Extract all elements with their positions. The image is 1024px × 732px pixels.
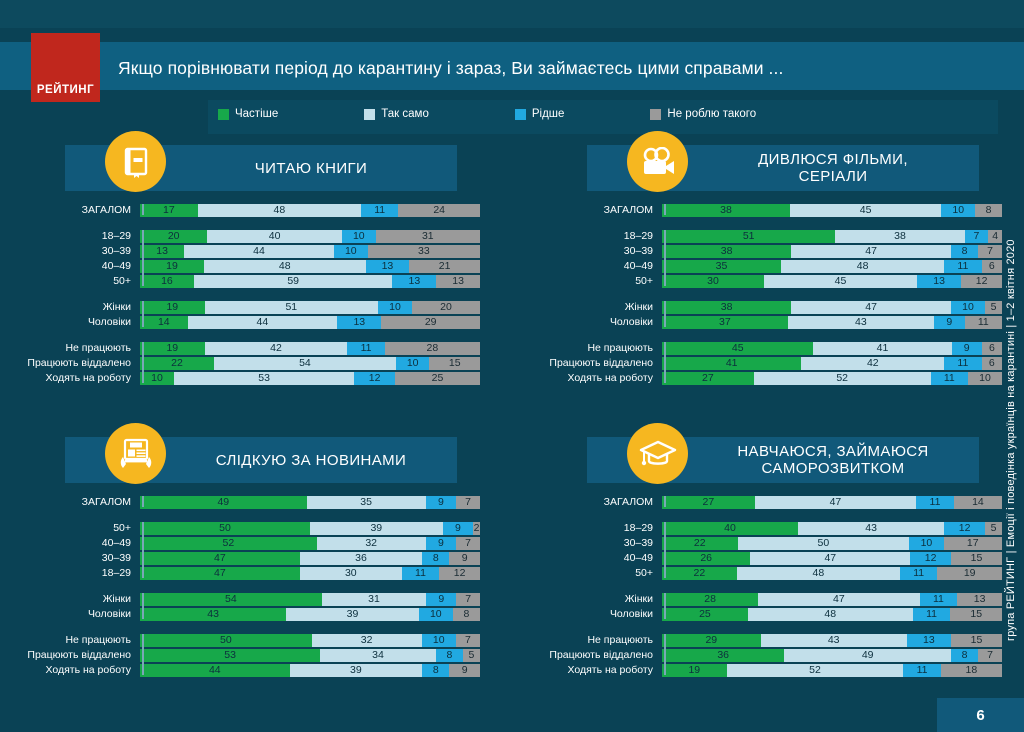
bar-segment: 32 xyxy=(317,537,426,550)
bar-segment: 7 xyxy=(978,245,1002,258)
bar-value: 41 xyxy=(877,342,889,355)
bar-value: 13 xyxy=(156,245,168,258)
bar-segment: 13 xyxy=(917,275,961,288)
chart-row: ЗАГАЛОМ3845108 xyxy=(532,204,1002,217)
bar-segment: 29 xyxy=(662,634,761,647)
bar-segment: 41 xyxy=(662,357,801,370)
bar-value: 50 xyxy=(219,522,231,535)
bar-value: 8 xyxy=(433,664,439,677)
bar-segment: 49 xyxy=(140,496,307,509)
bar-segment: 14 xyxy=(140,316,188,329)
bar-value: 26 xyxy=(700,552,712,565)
chart-group: Жінки28471113Чоловіки25481115 xyxy=(532,593,1002,621)
bar-segment: 44 xyxy=(188,316,338,329)
bar-segment: 42 xyxy=(801,357,944,370)
chart-row: Працюють віддалено533485 xyxy=(10,649,480,662)
chart-row: 50+503992 xyxy=(10,522,480,535)
row-label: ЗАГАЛОМ xyxy=(10,496,140,509)
bar-segment: 20 xyxy=(412,301,480,314)
bar-value: 6 xyxy=(989,357,995,370)
bar-value: 8 xyxy=(986,204,992,217)
row-label: Жінки xyxy=(532,593,662,606)
bar-segment: 6 xyxy=(982,357,1002,370)
panel-title: СЛІДКУЮ ЗА НОВИНАМИ xyxy=(165,452,457,469)
row-label: Не працюють xyxy=(532,634,662,647)
panel-header: СЛІДКУЮ ЗА НОВИНАМИ xyxy=(10,430,480,490)
bar-value: 54 xyxy=(299,357,311,370)
row-label: 40–49 xyxy=(532,260,662,273)
bar-value: 27 xyxy=(702,372,714,385)
axis-tick xyxy=(664,593,666,619)
bar-segment: 11 xyxy=(965,316,1002,329)
bar-segment: 13 xyxy=(957,593,1002,606)
bar-value: 17 xyxy=(163,204,175,217)
movie-camera-icon xyxy=(627,131,688,192)
row-label: ЗАГАЛОМ xyxy=(532,204,662,217)
bar-segment: 19 xyxy=(662,664,727,677)
bar-value: 5 xyxy=(991,301,997,314)
row-label: Жінки xyxy=(10,301,140,314)
bar-segment: 11 xyxy=(347,342,384,355)
bar-value: 7 xyxy=(987,649,993,662)
bar-value: 45 xyxy=(835,275,847,288)
stacked-bar-chart: ЗАГАЛОМ384510818–2951387430–3938478740–4… xyxy=(532,204,1002,385)
bar-value: 10 xyxy=(151,372,163,385)
book-icon xyxy=(105,131,166,192)
bar-value: 10 xyxy=(921,537,933,550)
chart-row: Не працюють5032107 xyxy=(10,634,480,647)
axis-tick xyxy=(142,342,144,383)
axis-tick xyxy=(664,634,666,675)
stacked-bar: 19511020 xyxy=(140,301,480,314)
bar-value: 6 xyxy=(989,260,995,273)
bar-segment: 9 xyxy=(443,522,474,535)
bar-value: 48 xyxy=(274,204,286,217)
chart-panel: НАВЧАЮСЯ, ЗАЙМАЮСЯСАМОРОЗВИТКОМЗАГАЛОМ27… xyxy=(532,430,1002,679)
bar-value: 9 xyxy=(946,316,952,329)
chart-row: ЗАГАЛОМ17481124 xyxy=(10,204,480,217)
bar-value: 9 xyxy=(455,522,461,535)
bar-value: 13 xyxy=(974,593,986,606)
stacked-bar: 19421128 xyxy=(140,342,480,355)
bar-value: 25 xyxy=(699,608,711,621)
bar-segment: 11 xyxy=(900,567,937,580)
bar-value: 19 xyxy=(688,664,700,677)
bar-segment: 25 xyxy=(662,608,748,621)
axis-tick xyxy=(664,496,666,507)
row-label: 50+ xyxy=(10,275,140,288)
axis-tick xyxy=(664,230,666,286)
bar-segment: 37 xyxy=(662,316,788,329)
chart-row: Не працюють29431315 xyxy=(532,634,1002,647)
bar-segment: 10 xyxy=(342,230,376,243)
chart-row: Ходять на роботу443989 xyxy=(10,664,480,677)
bar-segment: 7 xyxy=(456,496,480,509)
bar-value: 47 xyxy=(830,496,842,509)
bar-value: 13 xyxy=(452,275,464,288)
axis-tick xyxy=(142,204,144,215)
bar-segment: 11 xyxy=(920,593,958,606)
chart-row: Чоловіки25481115 xyxy=(532,608,1002,621)
bar-segment: 25 xyxy=(395,372,480,385)
page-title: Якщо порівнювати період до карантину і з… xyxy=(118,54,918,82)
bar-value: 35 xyxy=(360,496,372,509)
bar-value: 10 xyxy=(962,301,974,314)
bar-value: 27 xyxy=(703,496,715,509)
stacked-bar: 513874 xyxy=(662,230,1002,243)
chart-row: Ходять на роботу19521118 xyxy=(532,664,1002,677)
bar-value: 39 xyxy=(370,522,382,535)
bar-value: 11 xyxy=(944,372,955,385)
bar-segment: 39 xyxy=(310,522,443,535)
bar-segment: 10 xyxy=(334,245,368,258)
bar-segment: 15 xyxy=(951,552,1002,565)
bar-value: 12 xyxy=(976,275,988,288)
bar-value: 59 xyxy=(287,275,299,288)
stacked-bar: 19521118 xyxy=(662,664,1002,677)
legend-item: Так само xyxy=(364,108,429,120)
chart-row: 18–2920401031 xyxy=(10,230,480,243)
bar-value: 17 xyxy=(967,537,979,550)
bar-segment: 14 xyxy=(954,496,1002,509)
bar-value: 19 xyxy=(166,260,178,273)
axis-tick xyxy=(664,522,666,578)
bar-value: 51 xyxy=(743,230,755,243)
bar-value: 7 xyxy=(974,230,980,243)
bar-value: 48 xyxy=(279,260,291,273)
chart-row: 40–493548116 xyxy=(532,260,1002,273)
bar-value: 29 xyxy=(425,316,437,329)
chart-row: 18–29513874 xyxy=(532,230,1002,243)
under-band xyxy=(0,90,1024,100)
bar-segment: 31 xyxy=(322,593,426,606)
bar-value: 8 xyxy=(446,649,452,662)
legend-label: Не роблю такого xyxy=(667,108,756,120)
row-label: 40–49 xyxy=(532,552,662,565)
legend-swatch xyxy=(650,109,661,120)
side-credit: група РЕЙТИНГ | Емоції і поведінка украї… xyxy=(1000,160,1022,720)
axis-tick xyxy=(142,230,144,286)
bar-segment: 15 xyxy=(951,634,1002,647)
stacked-bar: 26471215 xyxy=(662,552,1002,565)
bar-value: 7 xyxy=(465,634,471,647)
stacked-bar-chart: ЗАГАЛОМ49359750+50399240–4952329730–3947… xyxy=(10,496,480,677)
row-label: Працюють віддалено xyxy=(532,357,662,370)
panel-title: ДИВЛЮСЯ ФІЛЬМИ,СЕРІАЛИ xyxy=(687,151,979,185)
bar-segment: 50 xyxy=(738,537,910,550)
bar-value: 24 xyxy=(433,204,445,217)
panel-header: ДИВЛЮСЯ ФІЛЬМИ,СЕРІАЛИ xyxy=(532,138,1002,198)
bar-segment: 51 xyxy=(205,301,378,314)
stacked-bar: 13441033 xyxy=(140,245,480,258)
bar-value: 7 xyxy=(465,537,471,550)
bar-value: 42 xyxy=(867,357,879,370)
stacked-bar: 29431315 xyxy=(662,634,1002,647)
row-label: 18–29 xyxy=(532,230,662,243)
row-label: 18–29 xyxy=(10,567,140,580)
bar-value: 37 xyxy=(719,316,731,329)
stacked-bar: 22541015 xyxy=(140,357,480,370)
bar-segment: 15 xyxy=(950,608,1002,621)
bar-segment: 6 xyxy=(982,342,1002,355)
top-band xyxy=(0,0,1024,28)
bar-value: 47 xyxy=(865,245,877,258)
bar-value: 36 xyxy=(355,552,367,565)
bar-segment: 51 xyxy=(662,230,835,243)
chart-row: 40–49523297 xyxy=(10,537,480,550)
bar-value: 30 xyxy=(707,275,719,288)
stacked-bar: 4043125 xyxy=(662,522,1002,535)
row-label: Ходять на роботу xyxy=(10,372,140,385)
bar-segment: 13 xyxy=(337,316,381,329)
bar-value: 21 xyxy=(439,260,451,273)
stacked-bar: 20401031 xyxy=(140,230,480,243)
axis-tick xyxy=(664,204,666,215)
stacked-bar: 3847105 xyxy=(662,301,1002,314)
chart-row: Жінки19511020 xyxy=(10,301,480,314)
row-label: 50+ xyxy=(10,522,140,535)
logo-text: РЕЙТИНГ xyxy=(37,84,94,96)
bar-value: 47 xyxy=(865,301,877,314)
bar-value: 28 xyxy=(427,342,439,355)
bar-value: 25 xyxy=(432,372,444,385)
stacked-bar: 27521110 xyxy=(662,372,1002,385)
bar-segment: 43 xyxy=(798,522,944,535)
bar-segment: 48 xyxy=(198,204,361,217)
bar-segment: 35 xyxy=(307,496,426,509)
bar-value: 50 xyxy=(220,634,232,647)
chart-group: ЗАГАЛОМ27471114 xyxy=(532,496,1002,509)
chart-panel: ДИВЛЮСЯ ФІЛЬМИ,СЕРІАЛИЗАГАЛОМ384510818–2… xyxy=(532,138,1002,387)
bar-value: 2 xyxy=(474,522,480,535)
bar-value: 39 xyxy=(350,664,362,677)
bar-value: 11 xyxy=(374,204,385,217)
chart-row: Жінки543197 xyxy=(10,593,480,606)
bar-segment: 13 xyxy=(392,275,436,288)
legend-item: Рідше xyxy=(515,108,565,120)
bar-value: 43 xyxy=(828,634,840,647)
bar-value: 43 xyxy=(865,522,877,535)
bar-value: 38 xyxy=(720,204,732,217)
bar-segment: 5 xyxy=(463,649,480,662)
chart-row: 30–3913441033 xyxy=(10,245,480,258)
bar-value: 31 xyxy=(368,593,380,606)
bar-segment: 44 xyxy=(184,245,334,258)
bar-segment: 11 xyxy=(944,260,981,273)
bar-segment: 26 xyxy=(662,552,750,565)
bar-value: 44 xyxy=(209,664,221,677)
stacked-bar: 503992 xyxy=(140,522,480,535)
bar-segment: 19 xyxy=(140,301,205,314)
bar-segment: 45 xyxy=(790,204,941,217)
bar-segment: 39 xyxy=(290,664,423,677)
bar-segment: 47 xyxy=(140,567,300,580)
chart-group: 18–29404312530–392250101740–492647121550… xyxy=(532,522,1002,580)
bar-value: 22 xyxy=(171,357,183,370)
bar-value: 11 xyxy=(913,567,924,580)
chart-row: ЗАГАЛОМ493597 xyxy=(10,496,480,509)
stacked-bar: 47301112 xyxy=(140,567,480,580)
stacked-bar: 19481321 xyxy=(140,260,480,273)
bar-value: 20 xyxy=(440,301,452,314)
bar-segment: 22 xyxy=(662,537,738,550)
bar-value: 38 xyxy=(721,245,733,258)
stacked-bar: 443989 xyxy=(140,664,480,677)
bar-segment: 21 xyxy=(409,260,480,273)
bar-segment: 10 xyxy=(140,372,174,385)
bar-segment: 53 xyxy=(174,372,354,385)
bar-value: 8 xyxy=(463,608,469,621)
bar-segment: 9 xyxy=(426,496,457,509)
row-label: 30–39 xyxy=(532,245,662,258)
stacked-bar: 523297 xyxy=(140,537,480,550)
bar-segment: 53 xyxy=(140,649,320,662)
bar-segment: 50 xyxy=(140,634,312,647)
bar-value: 9 xyxy=(438,496,444,509)
bar-value: 9 xyxy=(462,664,468,677)
bar-value: 10 xyxy=(389,301,401,314)
row-label: Жінки xyxy=(532,301,662,314)
bar-segment: 38 xyxy=(835,230,964,243)
bar-value: 47 xyxy=(824,552,836,565)
bar-value: 14 xyxy=(158,316,170,329)
bar-segment: 22 xyxy=(140,357,214,370)
bar-segment: 18 xyxy=(941,664,1002,677)
bar-value: 13 xyxy=(353,316,365,329)
bar-segment: 28 xyxy=(662,593,758,606)
bar-value: 10 xyxy=(433,634,445,647)
bar-value: 45 xyxy=(860,204,872,217)
bar-value: 10 xyxy=(979,372,991,385)
bar-value: 40 xyxy=(269,230,281,243)
stacked-bar: 22501017 xyxy=(662,537,1002,550)
row-label: Працюють віддалено xyxy=(10,649,140,662)
bar-segment: 13 xyxy=(140,245,184,258)
bar-segment: 39 xyxy=(286,608,419,621)
bar-value: 13 xyxy=(923,634,935,647)
stacked-bar: 3548116 xyxy=(662,260,1002,273)
bar-segment: 10 xyxy=(422,634,456,647)
chart-group: 50+50399240–4952329730–3947368918–294730… xyxy=(10,522,480,580)
bar-value: 15 xyxy=(971,552,983,565)
bar-segment: 11 xyxy=(916,496,954,509)
bar-segment: 10 xyxy=(909,537,943,550)
legend-swatch xyxy=(364,109,375,120)
bar-segment: 19 xyxy=(140,260,204,273)
bar-value: 40 xyxy=(724,522,736,535)
row-label: ЗАГАЛОМ xyxy=(10,204,140,217)
bar-value: 11 xyxy=(933,593,944,606)
chart-row: Ходять на роботу27521110 xyxy=(532,372,1002,385)
bar-segment: 11 xyxy=(944,357,981,370)
bar-value: 38 xyxy=(721,301,733,314)
chart-row: 50+16591313 xyxy=(10,275,480,288)
row-label: Жінки xyxy=(10,593,140,606)
bar-value: 43 xyxy=(855,316,867,329)
row-label: 30–39 xyxy=(10,552,140,565)
bar-segment: 38 xyxy=(662,245,791,258)
bar-value: 11 xyxy=(926,608,937,621)
stacked-bar: 473689 xyxy=(140,552,480,565)
row-label: Не працюють xyxy=(10,342,140,355)
bar-value: 22 xyxy=(694,537,706,550)
bar-value: 48 xyxy=(813,567,825,580)
row-label: 50+ xyxy=(532,567,662,580)
chart-group: Не працюють5032107Працюють віддалено5334… xyxy=(10,634,480,677)
bar-value: 12 xyxy=(925,552,937,565)
chart-group: ЗАГАЛОМ17481124 xyxy=(10,204,480,217)
chart-row: Працюють віддалено4142116 xyxy=(532,357,1002,370)
bar-segment: 10 xyxy=(941,204,975,217)
row-label: 18–29 xyxy=(10,230,140,243)
bar-value: 13 xyxy=(933,275,945,288)
bar-segment: 36 xyxy=(300,552,422,565)
bar-segment: 36 xyxy=(662,649,784,662)
bar-segment: 7 xyxy=(456,593,480,606)
stacked-bar: 28471113 xyxy=(662,593,1002,606)
bar-value: 53 xyxy=(258,372,270,385)
chart-group: Жінки543197Чоловіки4339108 xyxy=(10,593,480,621)
bar-segment: 7 xyxy=(965,230,989,243)
bar-segment: 30 xyxy=(300,567,402,580)
bar-segment: 6 xyxy=(982,260,1002,273)
bar-segment: 9 xyxy=(449,552,480,565)
bar-value: 19 xyxy=(166,301,178,314)
bar-value: 10 xyxy=(345,245,357,258)
bar-segment: 20 xyxy=(140,230,207,243)
bar-segment: 38 xyxy=(662,204,790,217)
bar-value: 48 xyxy=(857,260,869,273)
bar-segment: 9 xyxy=(426,537,457,550)
bar-value: 48 xyxy=(824,608,836,621)
row-label: Чоловіки xyxy=(532,316,662,329)
bar-value: 29 xyxy=(705,634,717,647)
rating-logo: РЕЙТИНГ xyxy=(31,33,100,102)
bar-value: 15 xyxy=(971,634,983,647)
bar-segment: 8 xyxy=(975,204,1002,217)
bar-segment: 42 xyxy=(205,342,348,355)
bar-segment: 13 xyxy=(436,275,480,288)
bar-segment: 48 xyxy=(737,567,900,580)
bottom-bar xyxy=(0,718,1024,732)
bar-value: 14 xyxy=(972,496,984,509)
bar-value: 47 xyxy=(214,552,226,565)
chart-row: Не працюють19421128 xyxy=(10,342,480,355)
bar-segment: 9 xyxy=(449,664,480,677)
stacked-bar-chart: ЗАГАЛОМ1748112418–292040103130–391344103… xyxy=(10,204,480,385)
bar-segment: 31 xyxy=(376,230,480,243)
bar-value: 19 xyxy=(166,342,178,355)
bar-value: 7 xyxy=(465,593,471,606)
bar-value: 49 xyxy=(217,496,229,509)
chart-row: 40–4919481321 xyxy=(10,260,480,273)
bar-value: 12 xyxy=(959,522,971,535)
bar-value: 20 xyxy=(168,230,180,243)
row-label: 50+ xyxy=(532,275,662,288)
bar-segment: 54 xyxy=(214,357,396,370)
bar-value: 51 xyxy=(285,301,297,314)
axis-tick xyxy=(142,634,144,675)
stacked-bar: 4339108 xyxy=(140,608,480,621)
bar-value: 15 xyxy=(449,357,461,370)
bar-segment: 45 xyxy=(764,275,917,288)
legend-item: Частіше xyxy=(218,108,278,120)
bar-value: 10 xyxy=(952,204,964,217)
bar-value: 11 xyxy=(917,664,928,677)
chart-row: 30–39384787 xyxy=(532,245,1002,258)
bar-segment: 52 xyxy=(754,372,931,385)
row-label: Чоловіки xyxy=(10,316,140,329)
